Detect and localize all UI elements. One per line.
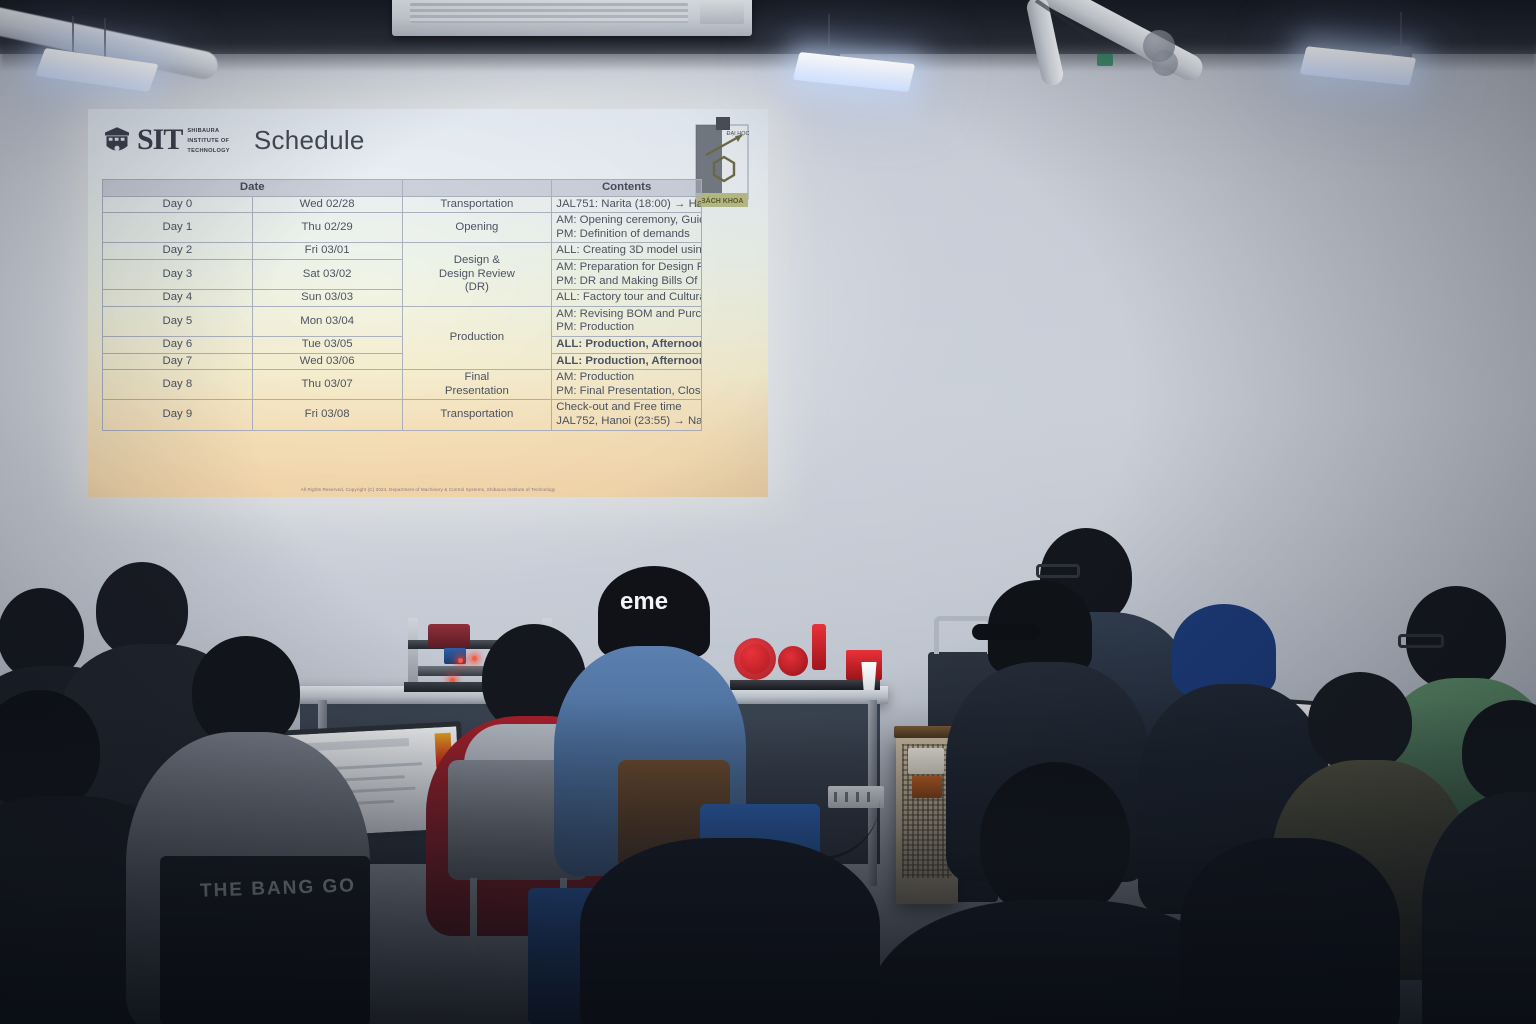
col-header-date: Date: [103, 180, 403, 197]
cell-date: Wed 02/28: [252, 196, 402, 213]
table-header-row: Date Contents: [103, 180, 702, 197]
projected-slide: SIT SHIBAURA INSTITUTE OF TECHNOLOGY Sch…: [88, 109, 768, 497]
slide-header: SIT SHIBAURA INSTITUTE OF TECHNOLOGY Sch…: [102, 121, 754, 181]
table-row: Day 2Fri 03/01Design &Design Review(DR)A…: [103, 243, 702, 260]
classroom-scene: SIT SHIBAURA INSTITUTE OF TECHNOLOGY Sch…: [0, 0, 1536, 1024]
cell-date: Fri 03/08: [252, 400, 402, 430]
cell-contents: ALL: Factory tour and Cultural experienc…: [552, 290, 702, 307]
slide-copyright: All Rights Reserved, Copyright (C) 2024,…: [88, 487, 768, 492]
table-row: Day 5Mon 03/04ProductionAM: Revising BOM…: [103, 306, 702, 336]
cell-day: Day 4: [103, 290, 253, 307]
schedule-table-head: Date Contents: [103, 180, 702, 197]
cell-contents: AM: ProductionPM: Final Presentation, Cl…: [552, 370, 702, 400]
cell-day: Day 5: [103, 306, 253, 336]
cell-contents: ALL: Production, Afternoon short lecture…: [552, 336, 702, 353]
cell-date: Thu 03/07: [252, 370, 402, 400]
cell-date: Thu 02/29: [252, 213, 402, 243]
glasses-icon: [1036, 564, 1080, 578]
cell-day: Day 2: [103, 243, 253, 260]
cell-contents: ALL: Creating 3D model using 3DCAD: [552, 243, 702, 260]
cell-day: Day 6: [103, 336, 253, 353]
slide-title: Schedule: [254, 121, 365, 156]
floor-shadow: [0, 700, 1536, 1024]
schedule-table: Date Contents Day 0Wed 02/28Transportati…: [102, 179, 702, 431]
sit-abbrev: SIT: [137, 125, 182, 155]
cell-phase: Production: [402, 306, 552, 369]
cell-phase: Design &Design Review(DR): [402, 243, 552, 306]
table-row: Day 0Wed 02/28TransportationJAL751: Nari…: [103, 196, 702, 213]
exit-sign-icon: [1097, 54, 1113, 66]
cell-day: Day 1: [103, 213, 253, 243]
cell-contents: AM: Preparation for Design ReviewPM: DR …: [552, 259, 702, 289]
ac-vent-icon: [700, 2, 744, 24]
cell-date: Sun 03/03: [252, 290, 402, 307]
cell-date: Sat 03/02: [252, 259, 402, 289]
sit-crest-icon: [102, 125, 132, 155]
cell-day: Day 0: [103, 196, 253, 213]
hust-bottom-text: BÁCH KHOA: [701, 196, 744, 205]
cell-day: Day 3: [103, 259, 253, 289]
cell-date: Tue 03/05: [252, 336, 402, 353]
cell-contents: ALL: Production, Afternoon short lecture…: [552, 353, 702, 370]
table-row: Day 9Fri 03/08TransportationCheck-out an…: [103, 400, 702, 430]
beanie-text: eme: [620, 588, 668, 616]
table-row: Day 1Thu 02/29OpeningAM: Opening ceremon…: [103, 213, 702, 243]
ac-unit-icon: [392, 0, 752, 36]
cell-date: Mon 03/04: [252, 306, 402, 336]
cell-contents: Check-out and Free timeJAL752, Hanoi (23…: [552, 400, 702, 430]
glasses-icon: [1398, 634, 1444, 648]
cell-date: Fri 03/01: [252, 243, 402, 260]
cell-phase: Transportation: [402, 400, 552, 430]
cell-day: Day 9: [103, 400, 253, 430]
col-header-phase-spacer: [402, 180, 552, 197]
sit-fullname: SHIBAURA INSTITUTE OF TECHNOLOGY: [187, 125, 229, 155]
cell-contents: AM: Opening ceremony, Guidance, and Iceb…: [552, 213, 702, 243]
cell-date: Wed 03/06: [252, 353, 402, 370]
schedule-table-body: Day 0Wed 02/28TransportationJAL751: Nari…: [103, 196, 702, 430]
col-header-contents: Contents: [552, 180, 702, 197]
wall-disc-icon: [1152, 50, 1178, 76]
red-machine-icon: [726, 624, 886, 692]
hust-logo-icon: ĐẠI HỌC BÁCH KHOA: [694, 117, 750, 221]
cell-contents: JAL751: Narita (18:00) → Hanoi (22:30), …: [552, 196, 702, 213]
cell-day: Day 7: [103, 353, 253, 370]
cell-phase: Opening: [402, 213, 552, 243]
cell-phase: Transportation: [402, 196, 552, 213]
sit-logo: SIT SHIBAURA INSTITUTE OF TECHNOLOGY: [102, 121, 230, 155]
cell-contents: AM: Revising BOM and PurchasePM: Product…: [552, 306, 702, 336]
cap-brim-icon: [972, 624, 1040, 640]
cell-phase: FinalPresentation: [402, 370, 552, 400]
cell-day: Day 8: [103, 370, 253, 400]
table-row: Day 8Thu 03/07FinalPresentationAM: Produ…: [103, 370, 702, 400]
